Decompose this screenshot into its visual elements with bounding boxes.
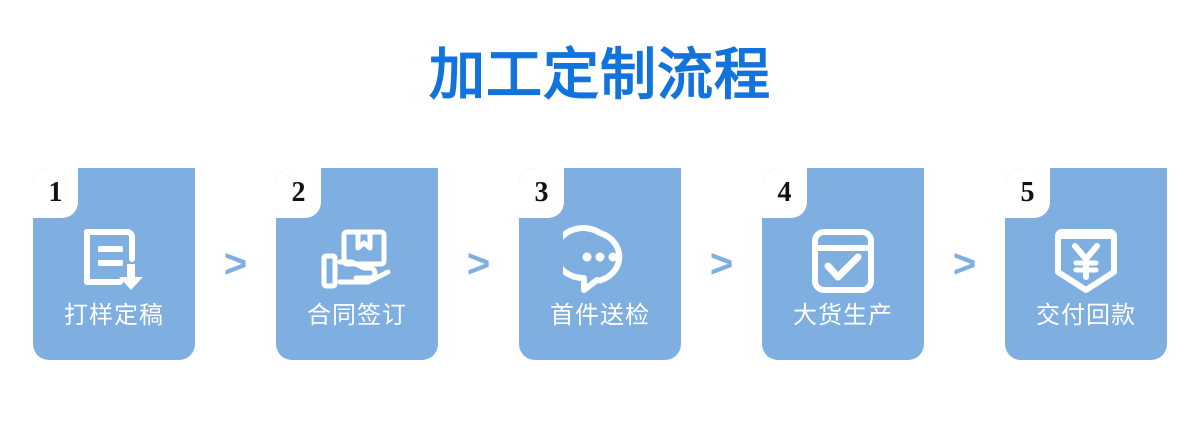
chevron-right-icon: > [196, 168, 276, 360]
calendar-check-icon [762, 220, 924, 302]
chevron-right-icon: > [439, 168, 519, 360]
step-card-2[interactable]: 2 合同签订 [276, 168, 438, 360]
step-number-badge: 1 [33, 168, 78, 218]
step-number-badge: 2 [276, 168, 321, 218]
speech-bubble-dots-icon [519, 220, 681, 302]
document-download-icon [33, 220, 195, 302]
step-number-badge: 3 [519, 168, 564, 218]
step-label: 合同签订 [276, 302, 438, 330]
page-title: 加工定制流程 [0, 44, 1200, 106]
step-label: 首件送检 [519, 302, 681, 330]
chevron-right-icon: > [682, 168, 762, 360]
step-number-badge: 4 [762, 168, 807, 218]
process-flow: 1 打样定稿 > 2 合同签订 > 3 [33, 168, 1167, 360]
step-label: 交付回款 [1005, 302, 1167, 330]
step-label: 大货生产 [762, 302, 924, 330]
step-number-badge: 5 [1005, 168, 1050, 218]
hand-holding-box-icon [276, 220, 438, 302]
step-card-3[interactable]: 3 首件送检 [519, 168, 681, 360]
step-card-5[interactable]: 5 交付回款 [1005, 168, 1167, 360]
yuan-envelope-icon [1005, 220, 1167, 302]
step-label: 打样定稿 [33, 302, 195, 330]
step-card-1[interactable]: 1 打样定稿 [33, 168, 195, 360]
step-card-4[interactable]: 4 大货生产 [762, 168, 924, 360]
chevron-right-icon: > [925, 168, 1005, 360]
